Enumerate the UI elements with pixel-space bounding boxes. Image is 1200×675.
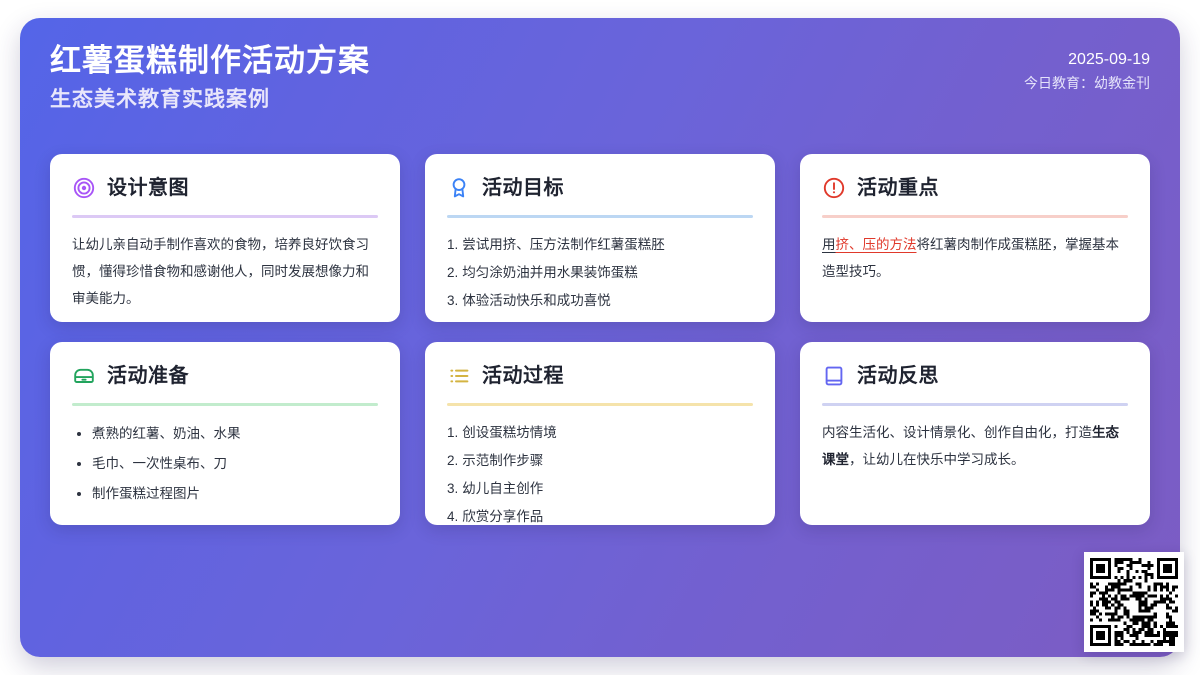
reflection-tail: ，让幼儿在快乐中学习成长。 <box>849 452 1025 467</box>
target-icon <box>72 176 96 200</box>
reflection-paragraph: 内容生活化、设计情景化、创作自由化，打造生态课堂，让幼儿在快乐中学习成长。 <box>822 419 1128 473</box>
goals-list: 1.尝试用挤、压方法制作红薯蛋糕胚 2.均匀涂奶油并用水果装饰蛋糕 3.体验活动… <box>447 231 753 315</box>
card-activity-goals[interactable]: 活动目标 1.尝试用挤、压方法制作红薯蛋糕胚 2.均匀涂奶油并用水果装饰蛋糕 3… <box>425 154 775 322</box>
publish-source: 今日教育：幼教金刊 <box>1024 72 1150 94</box>
list-item: 2.均匀涂奶油并用水果装饰蛋糕 <box>447 259 753 287</box>
card-header: 活动反思 <box>822 360 1128 392</box>
page-subtitle: 生态美术教育实践案例 <box>50 84 370 116</box>
card-paragraph: 让幼儿亲自动手制作喜欢的食物，培养良好饮食习惯，懂得珍惜食物和感谢他人，同时发展… <box>72 231 378 312</box>
focus-lead: 用 <box>822 237 836 252</box>
card-activity-focus[interactable]: 活动重点 用挤、压的方法将红薯肉制作成蛋糕胚，掌握基本造型技巧。 <box>800 154 1150 322</box>
card-title: 活动过程 <box>482 363 564 389</box>
reflection-lead: 内容生活化、设计情景化、创作自由化，打造 <box>822 425 1092 440</box>
screenshot-root: 红薯蛋糕制作活动方案 生态美术教育实践案例 2025-09-19 今日教育：幼教… <box>0 0 1200 675</box>
card-header: 活动准备 <box>72 360 378 392</box>
card-activity-prep[interactable]: 活动准备 煮熟的红薯、奶油、水果 毛巾、一次性桌布、刀 制作蛋糕过程图片 <box>50 342 400 525</box>
focus-highlight: 挤、压的方法 <box>836 237 917 252</box>
list-item: 2.示范制作步骤 <box>447 447 753 475</box>
title-block: 红薯蛋糕制作活动方案 生态美术教育实践案例 <box>50 40 370 116</box>
card-header: 设计意图 <box>72 172 378 204</box>
prep-list: 煮熟的红薯、奶油、水果 毛巾、一次性桌布、刀 制作蛋糕过程图片 <box>72 419 378 509</box>
list-item: 1.创设蛋糕坊情境 <box>447 419 753 447</box>
card-activity-process[interactable]: 活动过程 1.创设蛋糕坊情境 2.示范制作步骤 3.幼儿自主创作 4.欣赏分享作… <box>425 342 775 525</box>
publish-date: 2025-09-19 <box>1024 48 1150 72</box>
process-list: 1.创设蛋糕坊情境 2.示范制作步骤 3.幼儿自主创作 4.欣赏分享作品 <box>447 419 753 531</box>
card-title: 活动准备 <box>107 363 189 389</box>
card-title: 活动反思 <box>857 363 939 389</box>
card-activity-reflection[interactable]: 活动反思 内容生活化、设计情景化、创作自由化，打造生态课堂，让幼儿在快乐中学习成… <box>800 342 1150 525</box>
meta-block: 2025-09-19 今日教育：幼教金刊 <box>1024 48 1150 94</box>
focus-paragraph: 用挤、压的方法将红薯肉制作成蛋糕胚，掌握基本造型技巧。 <box>822 231 1128 285</box>
card-header: 活动目标 <box>447 172 753 204</box>
list-item: 3.体验活动快乐和成功喜悦 <box>447 287 753 315</box>
list-item: 毛巾、一次性桌布、刀 <box>72 449 378 479</box>
archive-box-icon <box>72 364 96 388</box>
card-title: 活动重点 <box>857 175 939 201</box>
card-header: 活动过程 <box>447 360 753 392</box>
poster-header: 红薯蛋糕制作活动方案 生态美术教育实践案例 2025-09-19 今日教育：幼教… <box>50 40 1150 150</box>
card-title: 活动目标 <box>482 175 564 201</box>
card-accent-rule <box>822 215 1128 218</box>
qr-code <box>1090 558 1178 646</box>
card-title: 设计意图 <box>107 175 189 201</box>
list-item: 4.欣赏分享作品 <box>447 503 753 531</box>
award-icon <box>447 176 471 200</box>
card-accent-rule <box>72 403 378 406</box>
list-icon <box>447 364 471 388</box>
list-item: 1.尝试用挤、压方法制作红薯蛋糕胚 <box>447 231 753 259</box>
list-item: 3.幼儿自主创作 <box>447 475 753 503</box>
card-accent-rule <box>822 403 1128 406</box>
card-header: 活动重点 <box>822 172 1128 204</box>
card-accent-rule <box>447 403 753 406</box>
card-accent-rule <box>72 215 378 218</box>
qr-code-panel[interactable] <box>1084 552 1184 652</box>
alert-circle-icon <box>822 176 846 200</box>
card-design-intent[interactable]: 设计意图 让幼儿亲自动手制作喜欢的食物，培养良好饮食习惯，懂得珍惜食物和感谢他人… <box>50 154 400 322</box>
card-accent-rule <box>447 215 753 218</box>
card-grid: 设计意图 让幼儿亲自动手制作喜欢的食物，培养良好饮食习惯，懂得珍惜食物和感谢他人… <box>50 154 1150 525</box>
poster-panel: 红薯蛋糕制作活动方案 生态美术教育实践案例 2025-09-19 今日教育：幼教… <box>20 18 1180 657</box>
page-title: 红薯蛋糕制作活动方案 <box>50 40 370 82</box>
book-icon <box>822 364 846 388</box>
list-item: 煮熟的红薯、奶油、水果 <box>72 419 378 449</box>
list-item: 制作蛋糕过程图片 <box>72 479 378 509</box>
